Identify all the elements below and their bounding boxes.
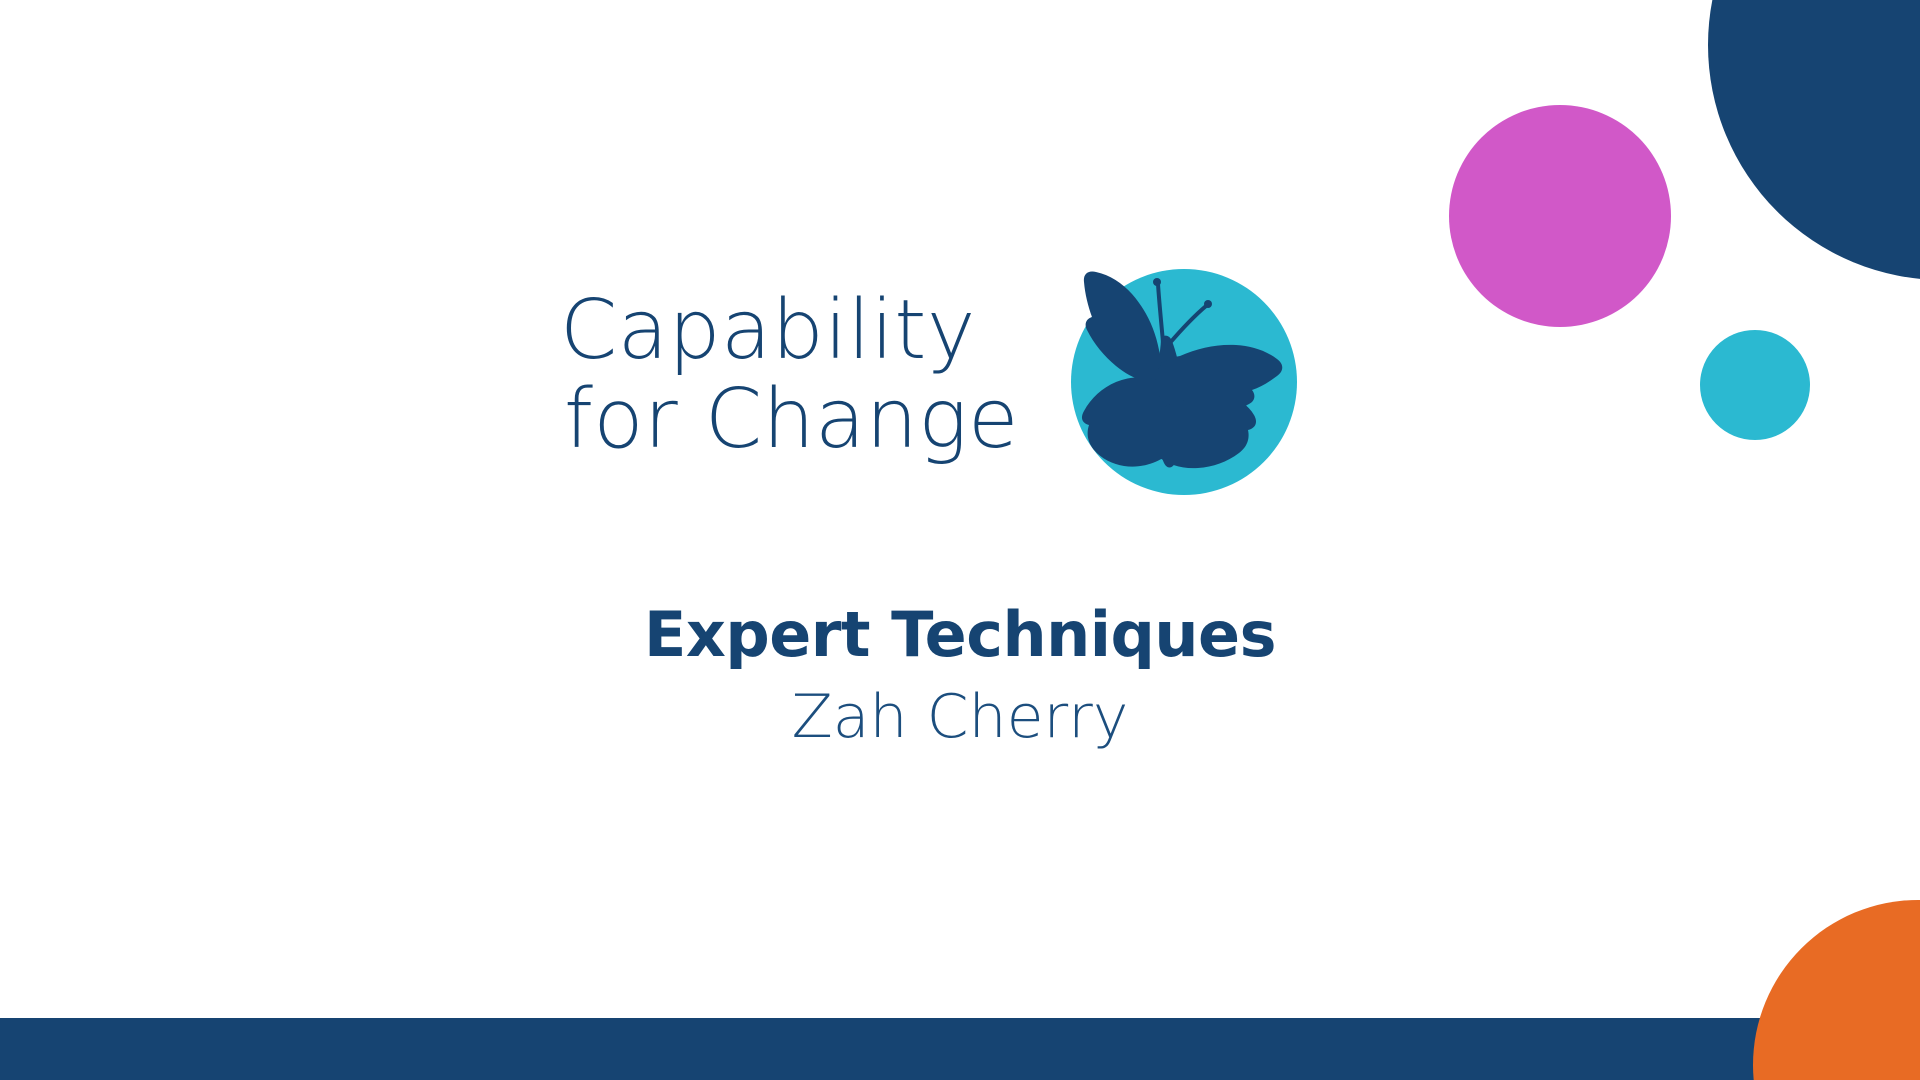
title-slide: Capability for Change xyxy=(0,0,1920,1080)
logo-wordmark: Capability for Change xyxy=(560,281,1019,464)
page-subtitle-author: Zah Cherry xyxy=(0,681,1920,753)
title-block: Expert Techniques Zah Cherry xyxy=(0,600,1920,753)
butterfly-icon xyxy=(1041,238,1303,508)
magenta-circle-decoration xyxy=(1449,105,1671,327)
orange-circle-decoration xyxy=(1753,900,1920,1080)
logo-line-for-change: for Change xyxy=(560,376,1019,465)
navy-corner-circle-decoration xyxy=(1708,0,1920,280)
bottom-bar-decoration xyxy=(0,1018,1920,1080)
logo-line-capability: Capability xyxy=(560,287,1019,376)
brand-logo: Capability for Change xyxy=(560,235,1360,510)
teal-small-circle-decoration xyxy=(1700,330,1810,440)
page-title: Expert Techniques xyxy=(0,600,1920,669)
